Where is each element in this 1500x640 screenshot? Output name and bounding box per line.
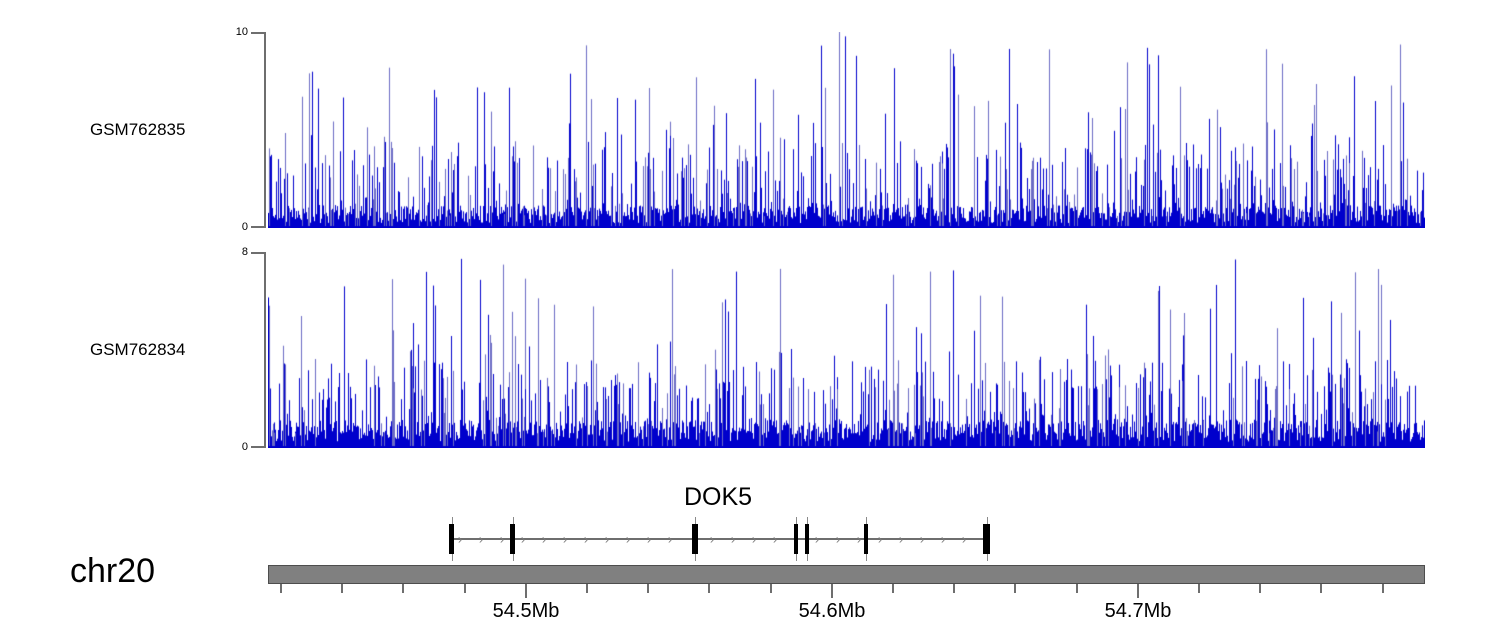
gene-direction-arrow: › (605, 533, 609, 546)
exon-4 (794, 524, 798, 554)
axis-tick-min (251, 226, 266, 228)
gene-name: DOK5 (684, 483, 752, 512)
gene-direction-arrow: › (920, 533, 924, 546)
axis-minor-tick (770, 584, 772, 593)
exon-2 (510, 524, 515, 554)
gene-direction-arrow: › (815, 533, 819, 546)
axis-minor-tick (280, 584, 282, 593)
gene-direction-arrow: › (941, 533, 945, 546)
axis-major-tick (831, 584, 833, 598)
axis-minor-tick (708, 584, 710, 593)
signal-canvas (268, 252, 1425, 448)
axis-minor-tick (341, 584, 343, 593)
signal-plot-GSM762834 (268, 252, 1425, 448)
axis-spine (264, 252, 266, 448)
chromosome-label: chr20 (70, 552, 155, 591)
gene-direction-arrow: › (542, 533, 546, 546)
axis-tick-min (251, 446, 266, 448)
axis-minor-tick (1198, 584, 1200, 593)
gene-direction-arrow: › (773, 533, 777, 546)
axis-minor-tick (464, 584, 466, 593)
axis-major-tick (525, 584, 527, 598)
gene-direction-arrow: › (710, 533, 714, 546)
gene-direction-arrow: › (899, 533, 903, 546)
signal-canvas (268, 32, 1425, 228)
track-label-GSM762834: GSM762834 (90, 340, 185, 360)
axis-label-min: 0 (242, 222, 248, 233)
exon-3 (692, 524, 698, 554)
exon-5 (805, 524, 809, 554)
gene-direction-arrow: › (647, 533, 651, 546)
gene-direction-arrow: › (626, 533, 630, 546)
axis-label-min: 0 (242, 442, 248, 453)
axis-minor-tick (1259, 584, 1261, 593)
y-axis-GSM762835: 100 (264, 32, 266, 228)
axis-tick-max (251, 32, 266, 34)
exon-6 (864, 524, 868, 554)
axis-minor-tick (1076, 584, 1078, 593)
gene-direction-arrow: › (878, 533, 882, 546)
gene-direction-arrow: › (857, 533, 861, 546)
gene-direction-arrow: › (962, 533, 966, 546)
axis-tick-label: 54.7Mb (1105, 600, 1172, 623)
y-axis-GSM762834: 80 (264, 252, 266, 448)
axis-minor-tick (1382, 584, 1384, 593)
axis-minor-tick (953, 584, 955, 593)
axis-minor-tick (402, 584, 404, 593)
axis-tick-label: 54.5Mb (493, 600, 560, 623)
axis-major-tick (1137, 584, 1139, 598)
chromosome-ideogram (268, 565, 1425, 584)
axis-minor-tick (586, 584, 588, 593)
track-label-GSM762835: GSM762835 (90, 120, 185, 140)
gene-direction-arrow: › (479, 533, 483, 546)
gene-body-line (449, 538, 988, 540)
axis-minor-tick (647, 584, 649, 593)
gene-direction-arrow: › (836, 533, 840, 546)
axis-label-max: 10 (236, 27, 248, 38)
gene-direction-arrow: › (521, 533, 525, 546)
signal-plot-GSM762835 (268, 32, 1425, 228)
axis-minor-tick (892, 584, 894, 593)
gene-direction-arrow: › (563, 533, 567, 546)
axis-minor-tick (1014, 584, 1016, 593)
exon-7 (983, 524, 990, 554)
gene-direction-arrow: › (731, 533, 735, 546)
gene-direction-arrow: › (500, 533, 504, 546)
gene-direction-arrow: › (668, 533, 672, 546)
axis-spine (264, 32, 266, 228)
genome-browser: GSM762835100GSM76283480DOK5›››››››››››››… (0, 0, 1500, 640)
gene-direction-arrow: › (584, 533, 588, 546)
axis-tick-label: 54.6Mb (799, 600, 866, 623)
exon-1 (449, 524, 454, 554)
axis-label-max: 8 (242, 247, 248, 258)
axis-tick-max (251, 252, 266, 254)
gene-direction-arrow: › (458, 533, 462, 546)
axis-minor-tick (1320, 584, 1322, 593)
gene-direction-arrow: › (752, 533, 756, 546)
